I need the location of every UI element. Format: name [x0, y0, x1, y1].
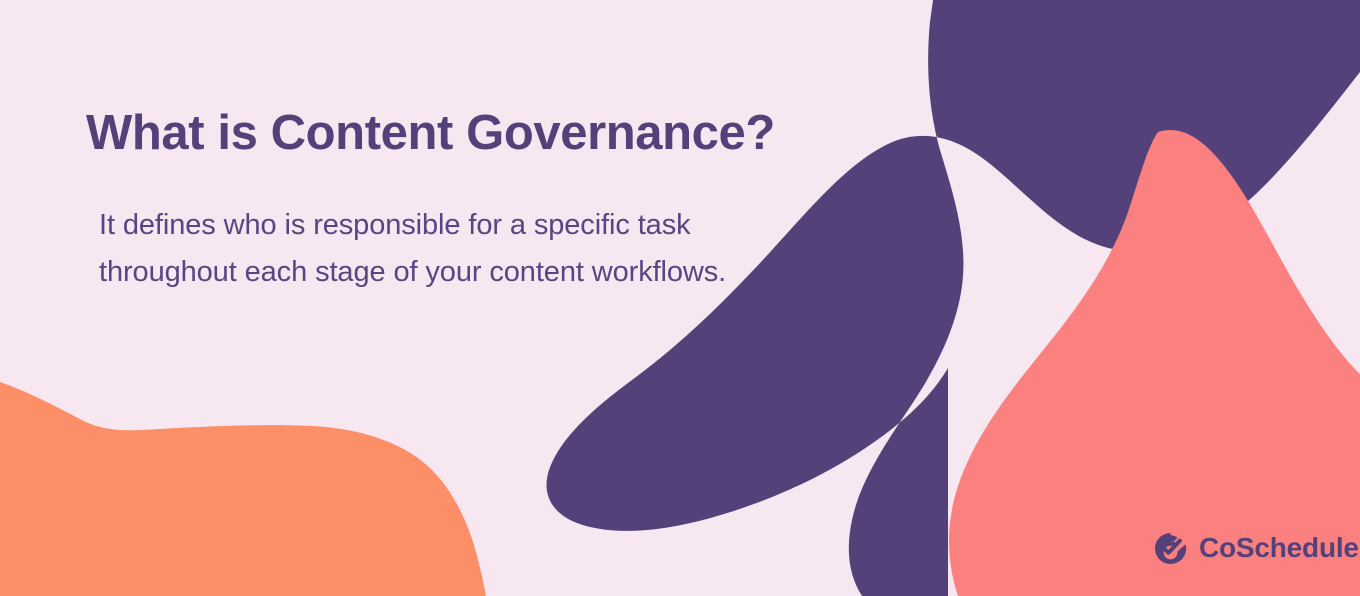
text-layer: What is Content Governance? It defines w… — [0, 0, 1360, 596]
description-line-1: It defines who is responsible for a spec… — [99, 202, 726, 249]
brand-logo: CoSchedule — [1152, 530, 1359, 566]
graphic-canvas: What is Content Governance? It defines w… — [0, 0, 1360, 596]
circle-check-icon — [1152, 530, 1188, 566]
description-text: It defines who is responsible for a spec… — [99, 202, 726, 296]
brand-name: CoSchedule — [1199, 534, 1359, 562]
page-title: What is Content Governance? — [86, 106, 775, 161]
description-line-2: throughout each stage of your content wo… — [99, 249, 726, 296]
